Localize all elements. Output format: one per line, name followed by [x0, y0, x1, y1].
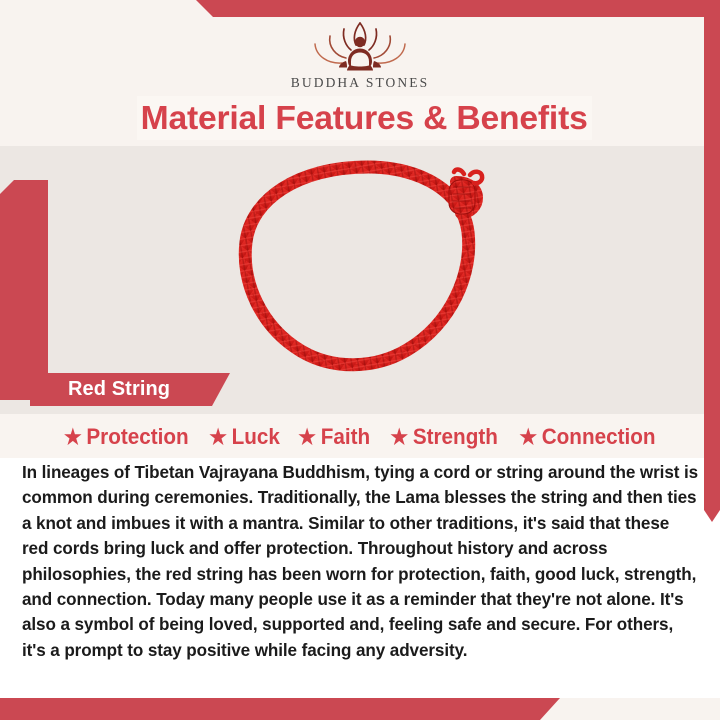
- title-banner: Material Features & Benefits: [137, 96, 592, 140]
- red-braided-string-bracelet-image: [225, 158, 505, 373]
- feature-list: ★ Protection ★ Luck ★ Faith ★ Strength ★…: [0, 418, 720, 456]
- star-icon: ★: [519, 427, 537, 448]
- brand-name: BUDDHA STONES: [291, 75, 429, 91]
- feature-label: Strength: [412, 424, 497, 450]
- lotus-meditation-figure-icon: [304, 20, 416, 74]
- star-icon: ★: [64, 427, 82, 448]
- star-icon: ★: [390, 427, 408, 448]
- description-text: In lineages of Tibetan Vajrayana Buddhis…: [22, 460, 700, 663]
- star-icon: ★: [298, 427, 316, 448]
- star-icon: ★: [209, 427, 227, 448]
- feature-item-connection: ★ Connection: [519, 424, 655, 450]
- product-label-banner: Red String: [30, 373, 230, 406]
- product-label: Red String: [30, 378, 170, 401]
- feature-item-faith: ★ Faith: [298, 424, 370, 450]
- brand-logo: BUDDHA STONES: [0, 20, 720, 96]
- feature-item-protection: ★ Protection: [64, 424, 189, 450]
- feature-label: Faith: [321, 424, 370, 450]
- decorative-bottom-red-band: [0, 698, 600, 720]
- decorative-left-red-strip: [0, 180, 48, 400]
- feature-item-strength: ★ Strength: [390, 424, 497, 450]
- feature-item-luck: ★ Luck: [209, 424, 280, 450]
- feature-label: Connection: [542, 424, 656, 450]
- page-title: Material Features & Benefits: [141, 99, 588, 137]
- feature-label: Protection: [87, 424, 189, 450]
- feature-label: Luck: [232, 424, 280, 450]
